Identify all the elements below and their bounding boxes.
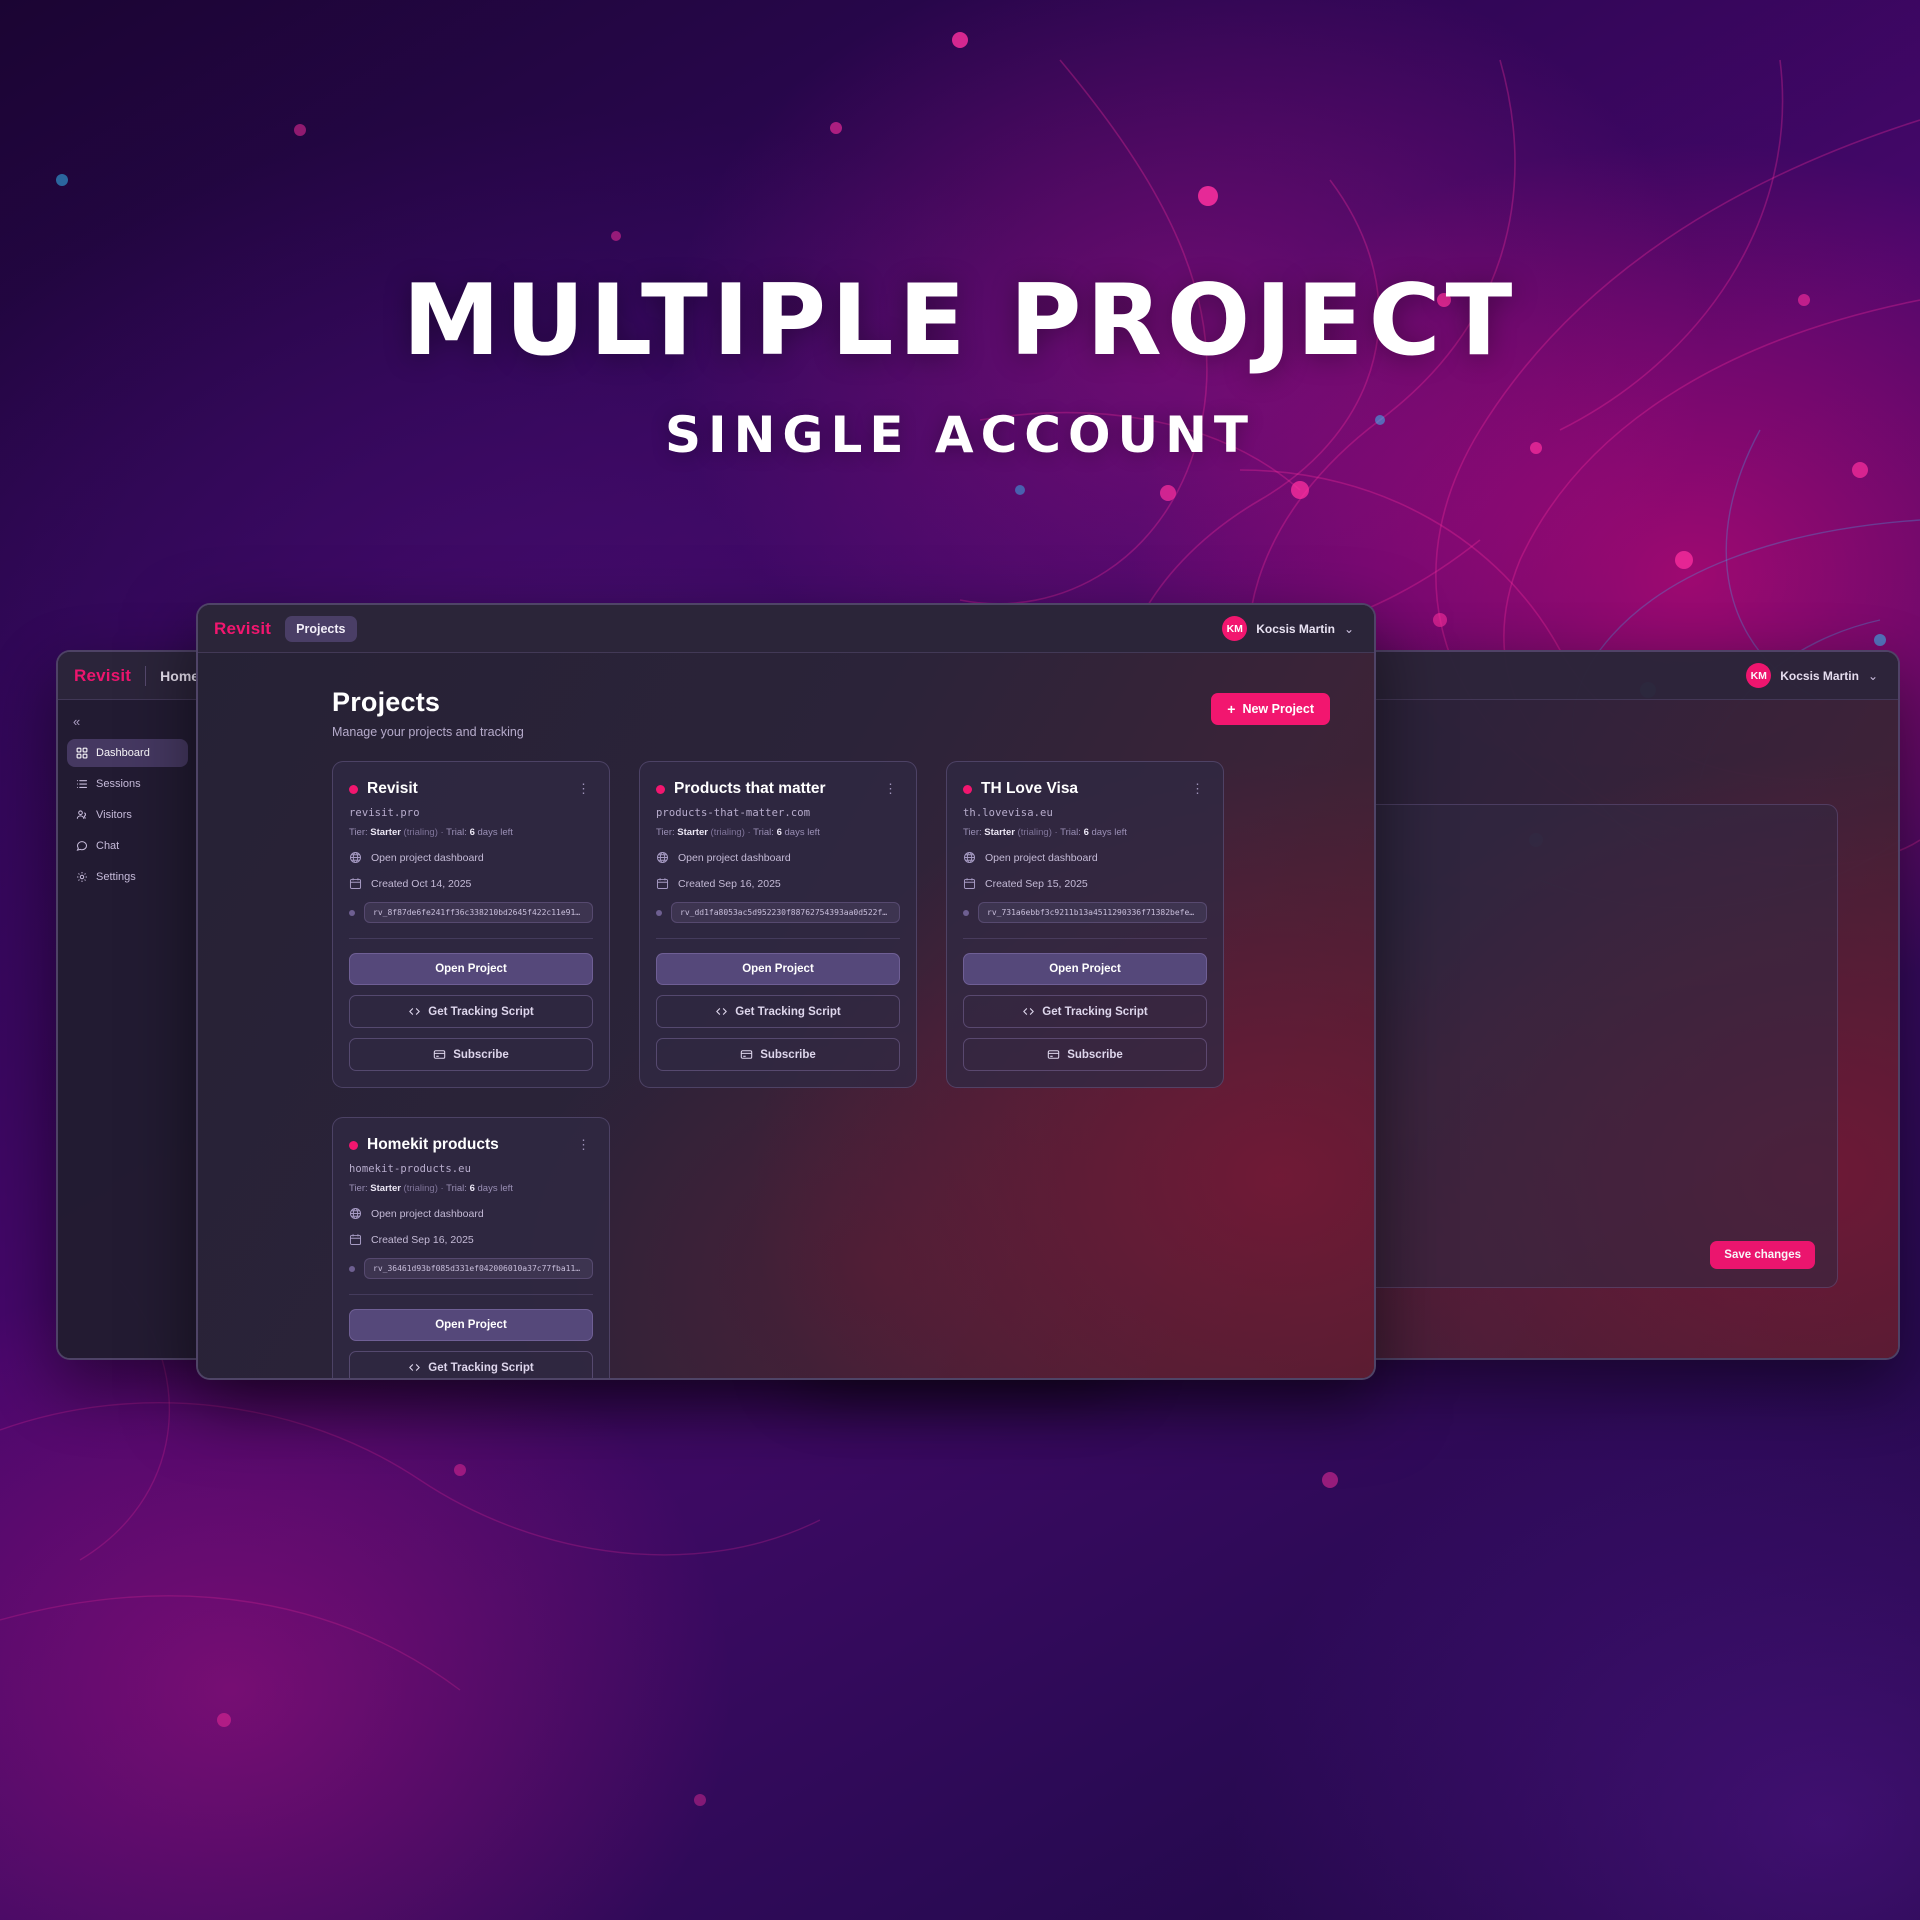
chat-icon (76, 840, 88, 852)
sidebar-item-sessions[interactable]: Sessions (67, 770, 188, 798)
new-project-label: New Project (1242, 702, 1314, 716)
status-dot-icon (349, 785, 358, 794)
get-tracking-script-button[interactable]: Get Tracking Script (349, 1351, 593, 1380)
open-project-button[interactable]: Open Project (963, 953, 1207, 985)
status-dot-icon (349, 1141, 358, 1150)
gear-icon (76, 871, 88, 883)
sidebar-item-label: Visitors (96, 809, 132, 821)
project-card-actions: Open Project Get Tracking Script Subscri… (963, 953, 1207, 1071)
calendar-icon (349, 1233, 362, 1246)
page-header: Projects Manage your projects and tracki… (332, 687, 1330, 739)
bullet-icon (349, 910, 355, 916)
get-tracking-script-button[interactable]: Get Tracking Script (963, 995, 1207, 1028)
tracking-id-value[interactable]: rv_8f87de6fe241ff36c338210bd2645f422c11e… (364, 902, 593, 923)
user-menu[interactable]: KM Kocsis Martin ⌄ (1222, 616, 1358, 641)
more-options-icon[interactable]: ⋮ (574, 1140, 593, 1150)
project-tier-meta: Tier: Starter (trialing) · Trial: 6 days… (963, 827, 1207, 838)
project-tier-meta: Tier: Starter (trialing) · Trial: 6 days… (349, 1183, 593, 1194)
created-date-label: Created Sep 16, 2025 (371, 1234, 474, 1246)
get-tracking-script-label: Get Tracking Script (428, 1006, 533, 1018)
chevron-down-icon[interactable]: ⌄ (1868, 670, 1878, 682)
hero-subtitle: SINGLE ACCOUNT (0, 406, 1920, 464)
more-options-icon[interactable]: ⋮ (574, 784, 593, 794)
status-dot-icon (963, 785, 972, 794)
brand-logo[interactable]: Revisit (74, 666, 131, 686)
open-project-button[interactable]: Open Project (349, 953, 593, 985)
project-domain: th.lovevisa.eu (963, 807, 1207, 819)
open-project-button[interactable]: Open Project (349, 1309, 593, 1341)
open-dashboard-label: Open project dashboard (678, 852, 791, 864)
globe-icon (349, 851, 362, 864)
get-tracking-script-button[interactable]: Get Tracking Script (349, 995, 593, 1028)
user-name: Kocsis Martin (1780, 669, 1859, 683)
subscribe-button[interactable]: Subscribe (963, 1038, 1207, 1071)
grid-icon (76, 747, 88, 759)
project-tier-meta: Tier: Starter (trialing) · Trial: 6 days… (656, 827, 900, 838)
open-dashboard-link[interactable]: Open project dashboard (963, 851, 1207, 864)
project-card-header: TH Love Visa ⋮ (963, 780, 1207, 798)
list-icon (76, 778, 88, 790)
project-domain: products-that-matter.com (656, 807, 900, 819)
avatar: KM (1222, 616, 1247, 641)
credit-card-icon (433, 1048, 446, 1061)
code-icon (408, 1361, 421, 1374)
page-title: Projects (332, 687, 524, 718)
project-card[interactable]: Products that matter ⋮ products-that-mat… (639, 761, 917, 1088)
save-changes-button[interactable]: Save changes (1710, 1241, 1815, 1269)
avatar: KM (1746, 663, 1771, 688)
code-icon (715, 1005, 728, 1018)
sidebar-item-label: Sessions (96, 778, 141, 790)
page-subtitle: Manage your projects and tracking (332, 725, 524, 739)
project-tier-meta: Tier: Starter (trialing) · Trial: 6 days… (349, 827, 593, 838)
credit-card-icon (1047, 1048, 1060, 1061)
tracking-id-row: rv_731a6ebbf3c9211b13a4511290336f71382be… (963, 902, 1207, 923)
subscribe-label: Subscribe (1067, 1049, 1123, 1061)
plus-icon: + (1227, 702, 1235, 716)
user-menu[interactable]: KM Kocsis Martin ⌄ (1746, 663, 1882, 688)
created-date-row: Created Sep 16, 2025 (656, 877, 900, 890)
tracking-id-row: rv_8f87de6fe241ff36c338210bd2645f422c11e… (349, 902, 593, 923)
projects-grid: Revisit ⋮ revisit.pro Tier: Starter (tri… (332, 761, 1330, 1380)
created-date-label: Created Sep 16, 2025 (678, 878, 781, 890)
created-date-row: Created Sep 15, 2025 (963, 877, 1207, 890)
created-date-label: Created Oct 14, 2025 (371, 878, 471, 890)
divider (349, 938, 593, 939)
project-card-actions: Open Project Get Tracking Script Subscri… (656, 953, 900, 1071)
get-tracking-script-button[interactable]: Get Tracking Script (656, 995, 900, 1028)
more-options-icon[interactable]: ⋮ (1188, 784, 1207, 794)
project-card[interactable]: Revisit ⋮ revisit.pro Tier: Starter (tri… (332, 761, 610, 1088)
project-card[interactable]: Homekit products ⋮ homekit-products.eu T… (332, 1117, 610, 1380)
subscribe-button[interactable]: Subscribe (349, 1038, 593, 1071)
get-tracking-script-label: Get Tracking Script (1042, 1006, 1147, 1018)
sidebar-item-visitors[interactable]: Visitors (67, 801, 188, 829)
get-tracking-script-label: Get Tracking Script (735, 1006, 840, 1018)
open-dashboard-link[interactable]: Open project dashboard (349, 851, 593, 864)
project-card-header: Products that matter ⋮ (656, 780, 900, 798)
divider (145, 666, 146, 686)
calendar-icon (656, 877, 669, 890)
project-domain: homekit-products.eu (349, 1163, 593, 1175)
bullet-icon (656, 910, 662, 916)
get-tracking-script-label: Get Tracking Script (428, 1362, 533, 1374)
sidebar-item-settings[interactable]: Settings (67, 863, 188, 891)
project-domain: revisit.pro (349, 807, 593, 819)
app-topbar: Revisit Projects KM Kocsis Martin ⌄ (198, 605, 1374, 653)
open-dashboard-link[interactable]: Open project dashboard (656, 851, 900, 864)
open-project-button[interactable]: Open Project (656, 953, 900, 985)
sidebar-item-label: Dashboard (96, 747, 150, 759)
project-card[interactable]: TH Love Visa ⋮ th.lovevisa.eu Tier: Star… (946, 761, 1224, 1088)
tracking-id-value[interactable]: rv_dd1fa8053ac5d952230f88762754393aa0d52… (671, 902, 900, 923)
globe-icon (963, 851, 976, 864)
tracking-id-row: rv_dd1fa8053ac5d952230f88762754393aa0d52… (656, 902, 900, 923)
new-project-button[interactable]: + New Project (1211, 693, 1330, 725)
more-options-icon[interactable]: ⋮ (881, 784, 900, 794)
open-dashboard-label: Open project dashboard (985, 852, 1098, 864)
projects-page: Projects Manage your projects and tracki… (198, 653, 1374, 1380)
status-dot-icon (656, 785, 665, 794)
created-date-row: Created Sep 16, 2025 (349, 1233, 593, 1246)
users-icon (76, 809, 88, 821)
hero-banner: MULTIPLE PROJECT SINGLE ACCOUNT (0, 272, 1920, 464)
sidebar-item-chat[interactable]: Chat (67, 832, 188, 860)
screenshot-canvas: MULTIPLE PROJECT SINGLE ACCOUNT Revisit … (0, 0, 1920, 1920)
user-name: Kocsis Martin (1256, 622, 1335, 636)
divider (349, 1294, 593, 1295)
project-name: Products that matter (674, 780, 826, 798)
tracking-id-value[interactable]: rv_731a6ebbf3c9211b13a4511290336f71382be… (978, 902, 1207, 923)
tracking-id-value[interactable]: rv_36461d93bf085d331ef042006010a37c77fba… (364, 1258, 593, 1279)
globe-icon (349, 1207, 362, 1220)
project-card-actions: Open Project Get Tracking Script Subscri… (349, 953, 593, 1071)
code-icon (1022, 1005, 1035, 1018)
collapse-sidebar-icon[interactable]: « (67, 710, 188, 739)
globe-icon (656, 851, 669, 864)
page-header-text: Projects Manage your projects and tracki… (332, 687, 524, 739)
hero-title: MULTIPLE PROJECT (0, 272, 1920, 370)
sidebar-item-label: Settings (96, 871, 136, 883)
open-dashboard-label: Open project dashboard (371, 1208, 484, 1220)
subscribe-label: Subscribe (453, 1049, 509, 1061)
created-date-row: Created Oct 14, 2025 (349, 877, 593, 890)
project-card-header: Revisit ⋮ (349, 780, 593, 798)
project-name: Revisit (367, 780, 418, 798)
bullet-icon (349, 1266, 355, 1272)
nav-tab-projects[interactable]: Projects (285, 616, 356, 642)
tracking-id-row: rv_36461d93bf085d331ef042006010a37c77fba… (349, 1258, 593, 1279)
sidebar-item-dashboard[interactable]: Dashboard (67, 739, 188, 767)
code-icon (408, 1005, 421, 1018)
project-card-actions: Open Project Get Tracking Script Subscri… (349, 1309, 593, 1380)
sidebar-item-label: Chat (96, 840, 119, 852)
project-name: TH Love Visa (981, 780, 1078, 798)
project-card-header: Homekit products ⋮ (349, 1136, 593, 1154)
credit-card-icon (740, 1048, 753, 1061)
divider (963, 938, 1207, 939)
open-dashboard-label: Open project dashboard (371, 852, 484, 864)
created-date-label: Created Sep 15, 2025 (985, 878, 1088, 890)
subscribe-label: Subscribe (760, 1049, 816, 1061)
brand-logo[interactable]: Revisit (214, 619, 271, 639)
open-dashboard-link[interactable]: Open project dashboard (349, 1207, 593, 1220)
project-name: Homekit products (367, 1136, 499, 1154)
calendar-icon (963, 877, 976, 890)
divider (656, 938, 900, 939)
sidebar: « Dashboard Sessions Visitors Chat Setti… (58, 700, 198, 1358)
subscribe-button[interactable]: Subscribe (656, 1038, 900, 1071)
calendar-icon (349, 877, 362, 890)
projects-window[interactable]: Revisit Projects KM Kocsis Martin ⌄ Proj… (196, 603, 1376, 1380)
bullet-icon (963, 910, 969, 916)
chevron-down-icon[interactable]: ⌄ (1344, 623, 1354, 635)
